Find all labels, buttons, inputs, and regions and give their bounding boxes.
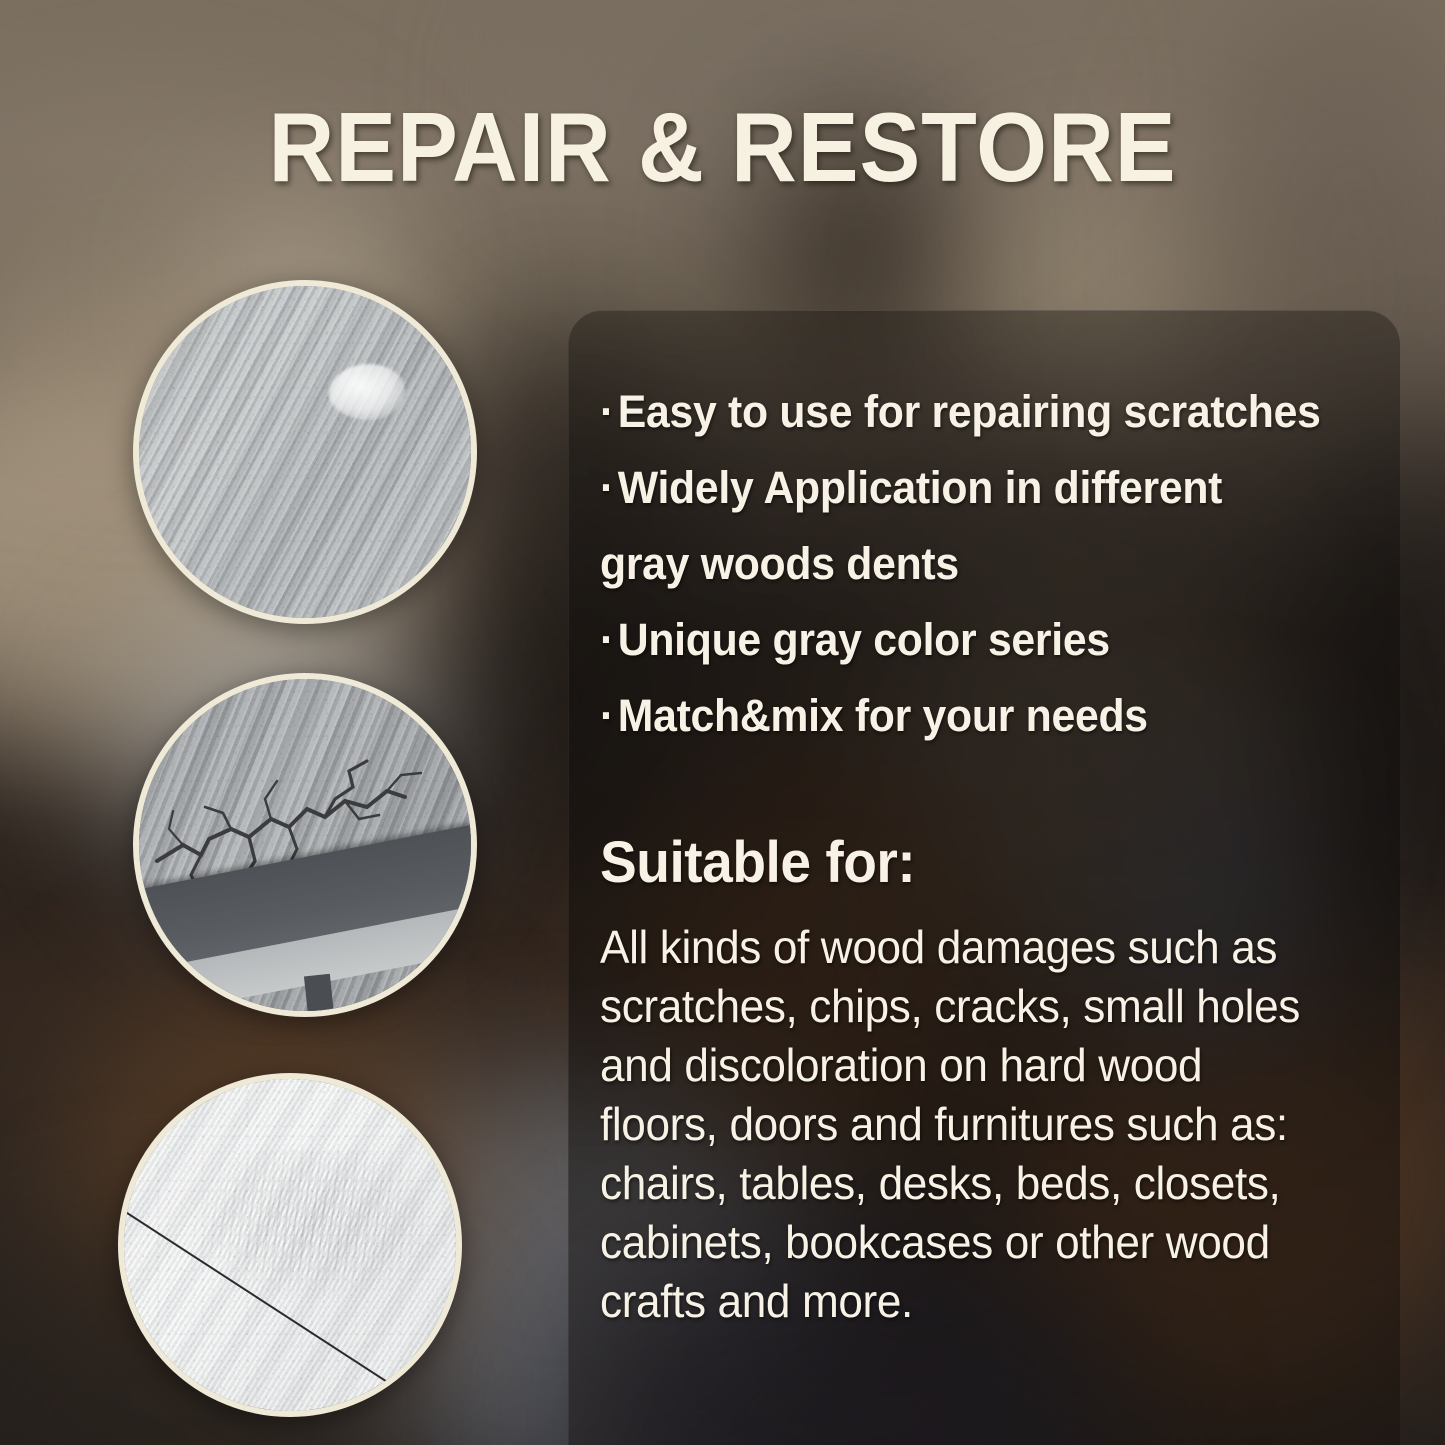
list-item: ·Unique gray color series <box>600 606 1360 673</box>
body-line: cabinets, bookcases or other wood <box>600 1213 1358 1272</box>
body-line: scratches, chips, cracks, small holes <box>600 977 1358 1036</box>
bullet-marker: · <box>600 614 614 665</box>
bullet-marker: · <box>600 462 614 513</box>
bullet-marker: · <box>600 690 614 741</box>
white-wood-scratch-photo <box>118 1073 462 1417</box>
body-line: floors, doors and furnitures such as: <box>600 1095 1358 1154</box>
texture-speckle <box>139 286 471 618</box>
gray-wood-dent-photo <box>133 280 477 624</box>
dent-highlight <box>329 364 405 420</box>
list-item: ·Widely Application in different <box>600 454 1360 521</box>
page-title: REPAIR & RESTORE <box>51 98 1395 196</box>
body-line: All kinds of wood damages such as <box>600 918 1358 977</box>
body-line: crafts and more. <box>600 1272 1358 1331</box>
body-line: and discoloration on hard wood <box>600 1036 1358 1095</box>
list-item-label: Unique gray color series <box>618 614 1110 665</box>
list-item: ·Match&mix for your needs <box>600 682 1360 749</box>
bullet-marker: · <box>600 386 614 437</box>
list-item-label: Match&mix for your needs <box>618 690 1148 741</box>
list-item: ·Easy to use for repairing scratches <box>600 378 1360 445</box>
feature-bullet-list: ·Easy to use for repairing scratches ·Wi… <box>600 378 1400 758</box>
list-item-label: Easy to use for repairing scratches <box>618 386 1321 437</box>
scratch-marks <box>194 1149 424 1299</box>
list-item-continuation: gray woods dents <box>600 530 1360 597</box>
suitable-for-heading: Suitable for: <box>600 834 915 892</box>
list-item-label: Widely Application in different <box>618 462 1222 513</box>
body-line: chairs, tables, desks, beds, closets, <box>600 1154 1358 1213</box>
gray-wood-cracks-photo <box>133 673 477 1017</box>
list-item-label: gray woods dents <box>600 538 959 589</box>
product-feature-image: REPAIR & RESTORE <box>0 0 1445 1445</box>
suitable-for-body: All kinds of wood damages such as scratc… <box>600 918 1358 1331</box>
